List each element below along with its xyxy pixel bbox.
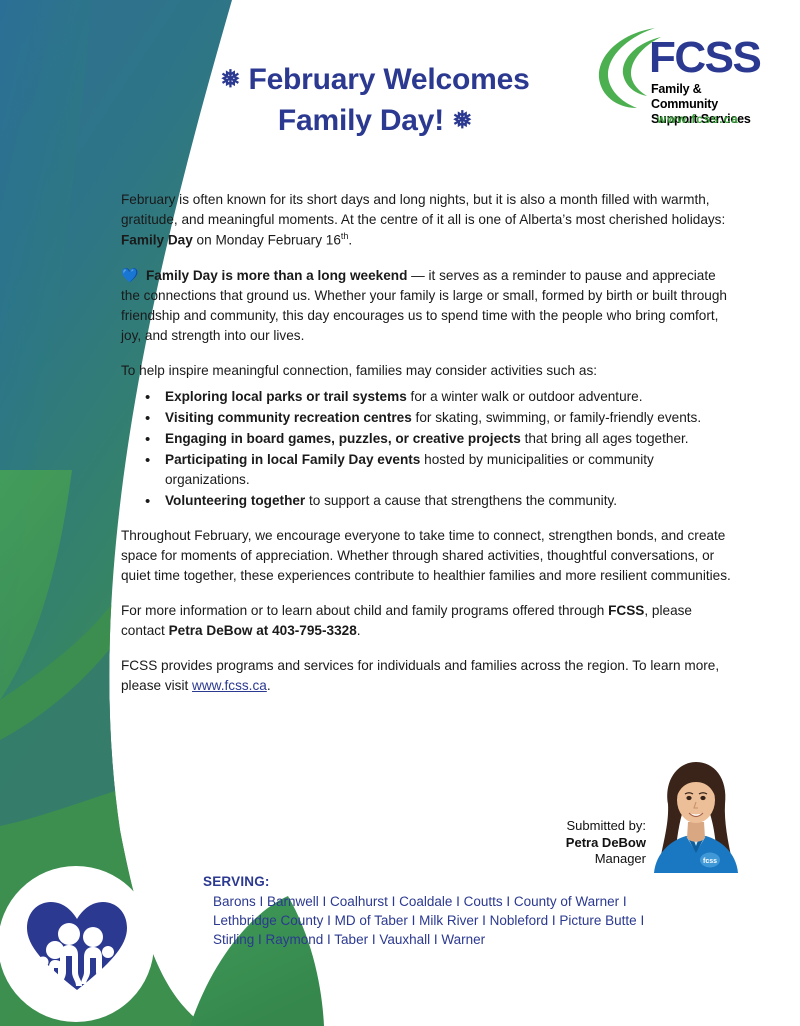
staff-photo: fcss [648, 756, 743, 873]
title-text-2: Family Day! [278, 104, 444, 137]
snowflake-icon-left: ❅ [220, 66, 240, 93]
weekend-bold-lead: Family Day is more than a long weekend [146, 268, 407, 283]
bullet-rest: for skating, swimming, or family-friendl… [412, 410, 701, 425]
list-item: Engaging in board games, puzzles, or cre… [165, 429, 734, 449]
intro-text-a: February is often known for its short da… [121, 192, 725, 227]
submitted-by-name: Petra DeBow [541, 835, 646, 852]
family-heart-logo-icon [24, 898, 130, 992]
logo-url: www.fcss.ca [657, 114, 739, 126]
page-header: ❅ February Welcomes Family Day! ❅ FCSS F… [0, 0, 800, 175]
intro-text-c: . [348, 232, 352, 247]
body-content: February is often known for its short da… [121, 190, 734, 711]
serving-footer: SERVING: Barons I Barnwell I Coalhurst I… [203, 874, 723, 949]
serving-heading: SERVING: [203, 874, 723, 889]
contact-bold-person-phone: Petra DeBow at 403-795-3328 [169, 623, 357, 638]
title-text-1: February Welcomes [248, 63, 529, 96]
serving-line-2: Lethbridge County I MD of Taber I Milk R… [213, 911, 723, 930]
list-item: Exploring local parks or trail systems f… [165, 387, 734, 407]
list-item: Volunteering together to support a cause… [165, 491, 734, 511]
page-title: ❅ February Welcomes Family Day! ❅ [150, 60, 600, 141]
bullet-rest: for a winter walk or outdoor adventure. [407, 389, 643, 404]
bullet-bold: Visiting community recreation centres [165, 410, 412, 425]
logo-wordmark: FCSS [649, 36, 760, 80]
submitted-by-label: Submitted by: [541, 818, 646, 835]
bullet-bold: Exploring local parks or trail systems [165, 389, 407, 404]
list-item: Participating in local Family Day events… [165, 450, 734, 490]
staff-photo-illustration: fcss [648, 756, 743, 873]
snowflake-icon-right: ❅ [452, 107, 472, 134]
intro-bold-family-day: Family Day [121, 232, 193, 247]
contact-bold-fcss: FCSS [608, 603, 644, 618]
svg-text:fcss: fcss [703, 858, 717, 865]
contact-text-c: . [357, 623, 361, 638]
fcss-logo: FCSS Family & Community Support Services… [595, 24, 770, 129]
activities-list: Exploring local parks or trail systems f… [121, 387, 734, 511]
serving-line-1: Barons I Barnwell I Coalhurst I Coaldale… [213, 892, 723, 911]
blue-heart-icon: 💙 [121, 267, 138, 283]
about-text-c: . [267, 678, 271, 693]
serving-line-3: Stirling I Raymond I Taber I Vauxhall I … [213, 930, 723, 949]
bullet-rest: that bring all ages together. [521, 431, 689, 446]
paragraph-contact: For more information or to learn about c… [121, 601, 734, 641]
bullet-bold: Engaging in board games, puzzles, or cre… [165, 431, 521, 446]
bullet-rest: to support a cause that strengthens the … [305, 493, 617, 508]
paragraph-activities-lead: To help inspire meaningful connection, f… [121, 361, 734, 381]
fcss-website-link[interactable]: www.fcss.ca [192, 678, 267, 693]
list-item: Visiting community recreation centres fo… [165, 408, 734, 428]
paragraph-about-fcss: FCSS provides programs and services for … [121, 656, 734, 696]
paragraph-intro: February is often known for its short da… [121, 190, 734, 250]
intro-text-b: on Monday February 16 [193, 232, 341, 247]
newsletter-page: ❅ February Welcomes Family Day! ❅ FCSS F… [0, 0, 800, 1026]
paragraph-more-than-weekend: 💙 Family Day is more than a long weekend… [121, 265, 734, 346]
title-line-2: Family Day! ❅ [150, 101, 600, 142]
submitted-by-block: Submitted by: Petra DeBow Manager [541, 818, 646, 868]
paragraph-throughout-february: Throughout February, we encourage everyo… [121, 526, 734, 586]
bullet-bold: Volunteering together [165, 493, 305, 508]
title-line-1: ❅ February Welcomes [150, 60, 600, 101]
contact-text-a: For more information or to learn about c… [121, 603, 608, 618]
serving-communities: Barons I Barnwell I Coalhurst I Coaldale… [203, 892, 723, 949]
submitted-by-role: Manager [541, 851, 646, 868]
logo-tagline-line-1: Family & Community [651, 82, 770, 112]
bullet-bold: Participating in local Family Day events [165, 452, 420, 467]
